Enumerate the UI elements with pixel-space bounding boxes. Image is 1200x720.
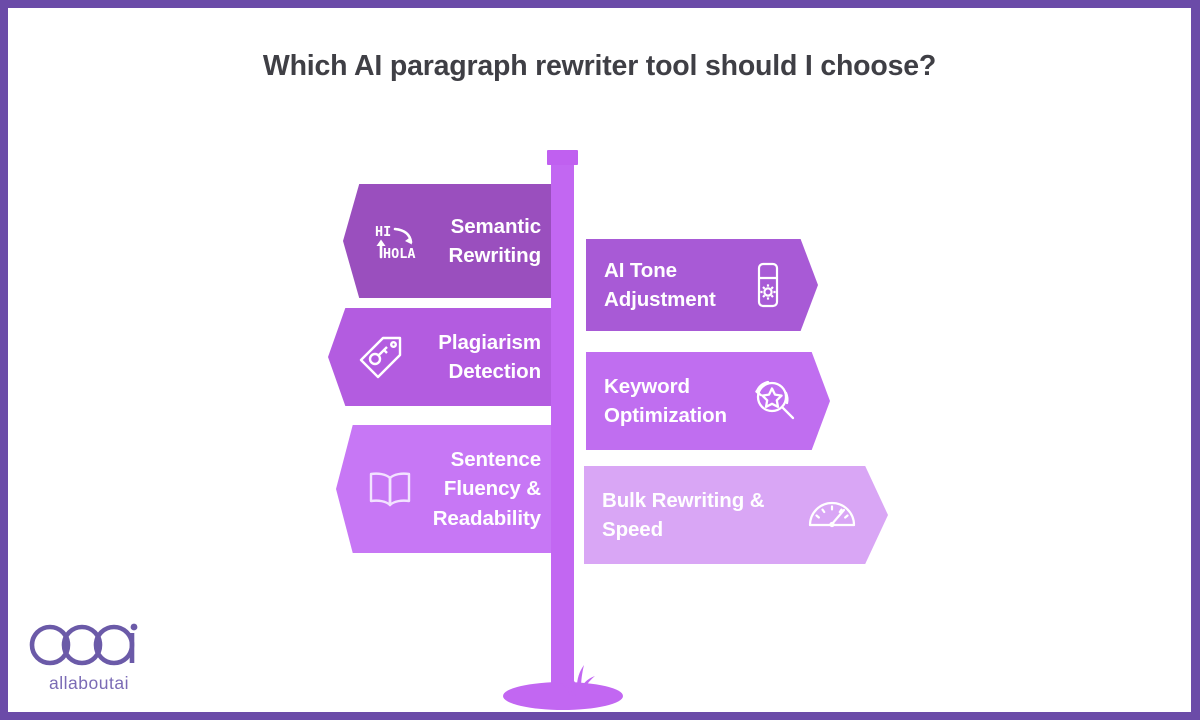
sign-label: Keyword Optimization: [604, 372, 727, 430]
grass-tuft-icon: [546, 654, 606, 696]
speedometer-icon: [804, 491, 860, 539]
sign-panel: Sentence Fluency & Readability: [336, 425, 559, 553]
signpost-pole: [551, 165, 574, 696]
logo-wordmark: allaboutai: [28, 673, 150, 694]
infographic-canvas: Which AI paragraph rewriter tool should …: [8, 8, 1191, 712]
sign-label: Semantic Rewriting: [449, 212, 546, 270]
brightness-slider-icon: [746, 259, 790, 311]
sign-panel: Keyword Optimization: [586, 352, 830, 450]
tag-key-icon: [356, 332, 406, 382]
sign-keyword-optimization[interactable]: Keyword Optimization: [586, 352, 830, 450]
open-book-icon: [364, 463, 416, 515]
sign-label: Bulk Rewriting & Speed: [602, 486, 764, 544]
sign-panel: Plagiarism Detection: [328, 308, 559, 406]
screenshot-frame: Which AI paragraph rewriter tool should …: [0, 0, 1200, 720]
signpost-pole-cap: [547, 150, 578, 165]
sign-plagiarism-detection[interactable]: Plagiarism Detection: [328, 308, 559, 406]
sign-panel: HI HOLA Semantic Rewriting: [343, 184, 559, 298]
sign-bulk-rewriting-speed[interactable]: Bulk Rewriting & Speed: [584, 466, 888, 564]
sign-label: AI Tone Adjustment: [604, 256, 716, 314]
translate-icon: HI HOLA: [371, 215, 423, 267]
page-title: Which AI paragraph rewriter tool should …: [8, 50, 1191, 83]
star-magnifier-icon: [748, 375, 802, 427]
sign-panel: Bulk Rewriting & Speed: [584, 466, 888, 564]
svg-text:HI: HI: [375, 224, 391, 240]
logo: allaboutai: [28, 621, 150, 694]
sign-semantic-rewriting[interactable]: HI HOLA Semantic Rewriting: [343, 184, 559, 298]
sign-ai-tone-adjustment[interactable]: AI Tone Adjustment: [586, 239, 818, 331]
aaai-monogram-icon: [28, 621, 150, 667]
sign-sentence-fluency-readability[interactable]: Sentence Fluency & Readability: [336, 425, 559, 553]
sign-label: Plagiarism Detection: [438, 328, 545, 386]
svg-text:HOLA: HOLA: [383, 246, 416, 262]
sign-label: Sentence Fluency & Readability: [433, 445, 545, 532]
sign-panel: AI Tone Adjustment: [586, 239, 818, 331]
